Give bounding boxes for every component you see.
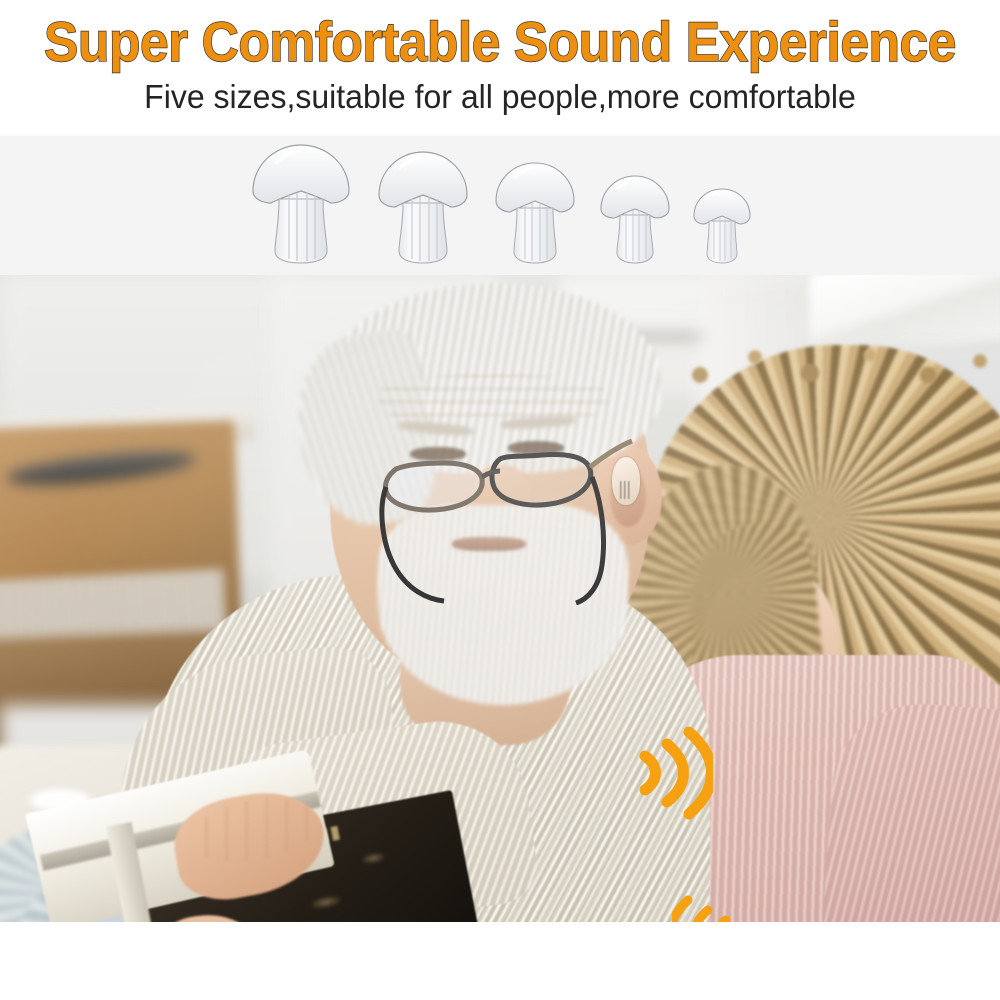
- sound-wave-right-icon: [633, 722, 713, 822]
- page-title: Super Comfortable Sound Experience: [40, 14, 960, 70]
- ear-tips-showcase-band: [0, 133, 1000, 275]
- ear-tip-small-icon: [595, 167, 675, 265]
- ear-tip-xs-icon: [689, 181, 755, 265]
- ear-tip-xl-icon: [245, 133, 357, 265]
- footer-whitespace: [0, 922, 1000, 1000]
- ear-tip-medium-icon: [489, 153, 581, 265]
- product-marketing-image: Super Comfortable Sound Experience Five …: [0, 0, 1000, 1000]
- ear-tip-large-icon: [371, 141, 475, 265]
- ear-tips-row: [0, 133, 1000, 275]
- page-subtitle: Five sizes,suitable for all people,more …: [15, 80, 985, 114]
- piano-lid: [5, 445, 197, 491]
- header-banner: Super Comfortable Sound Experience Five …: [0, 0, 1000, 133]
- lifestyle-photo: [0, 275, 1000, 922]
- girl-hair-curls: [660, 335, 1000, 485]
- eyeglasses: [370, 425, 660, 605]
- sound-wave-left-icon: [672, 892, 738, 922]
